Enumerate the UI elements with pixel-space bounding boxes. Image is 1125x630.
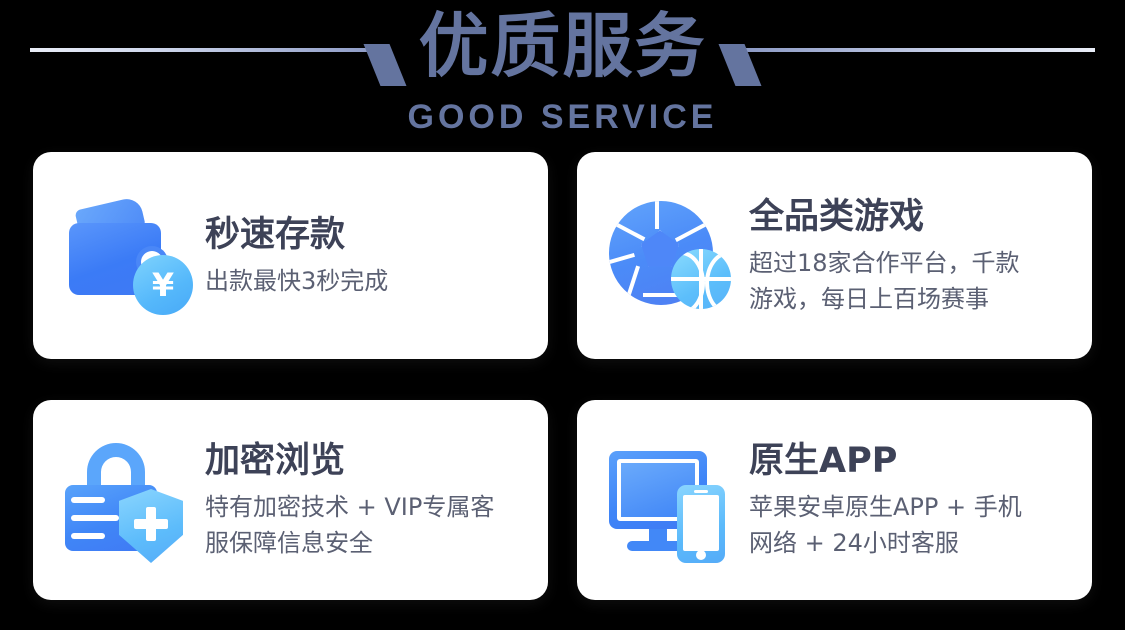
feature-card-title: 全品类游戏	[749, 195, 1080, 239]
feature-card-fast-deposit[interactable]: ¥ 秒速存款 出款最快3秒完成	[33, 152, 548, 359]
feature-card-subtitle-line: 苹果安卓原生APP + 手机	[749, 489, 1080, 525]
soccer-seam	[609, 252, 635, 264]
plus-icon	[134, 519, 168, 529]
feature-card-subtitle-line: 超过18家合作平台，千款	[749, 245, 1080, 281]
feature-card-subtitle-line: 服保障信息安全	[205, 525, 536, 561]
lock-slot	[71, 497, 105, 503]
phone-speaker	[694, 490, 708, 493]
feature-card-subtitle-line: 特有加密技术 + VIP专属客	[205, 489, 536, 525]
feature-card-text: 原生APP 苹果安卓原生APP + 手机 网络 + 24小时客服	[749, 439, 1080, 561]
feature-card-title: 原生APP	[749, 439, 1080, 483]
feature-card-all-games[interactable]: 全品类游戏 超过18家合作平台，千款 游戏，每日上百场赛事	[577, 152, 1092, 359]
feature-card-text: 全品类游戏 超过18家合作平台，千款 游戏，每日上百场赛事	[749, 195, 1080, 317]
page-title: 优质服务	[0, 4, 1125, 88]
phone-icon	[677, 485, 725, 563]
basketball-icon	[671, 249, 731, 309]
soccer-seam	[622, 265, 640, 304]
wallet-yen-icon: ¥	[61, 193, 193, 319]
phone-screen	[683, 495, 719, 551]
page-subtitle: GOOD SERVICE	[0, 98, 1125, 136]
soccer-seam	[675, 215, 713, 241]
soccer-seam	[609, 216, 645, 240]
feature-card-subtitle: 特有加密技术 + VIP专属客 服保障信息安全	[205, 489, 536, 561]
feature-card-text: 加密浏览 特有加密技术 + VIP专属客 服保障信息安全	[205, 439, 536, 561]
feature-card-subtitle-line: 游戏，每日上百场赛事	[749, 281, 1080, 317]
soccer-basketball-icon	[605, 193, 737, 319]
feature-card-subtitle: 出款最快3秒完成	[205, 263, 536, 299]
basketball-curve	[705, 251, 731, 309]
feature-card-title: 加密浏览	[205, 439, 536, 483]
feature-card-text: 秒速存款 出款最快3秒完成	[205, 213, 536, 299]
good-service-banner: 优质服务 GOOD SERVICE ¥ 秒速存款 出款最快3秒完成	[0, 0, 1125, 630]
feature-card-encrypted-browsing[interactable]: 加密浏览 特有加密技术 + VIP专属客 服保障信息安全	[33, 400, 548, 600]
feature-card-subtitle: 超过18家合作平台，千款 游戏，每日上百场赛事	[749, 245, 1080, 317]
yen-coin-icon: ¥	[133, 255, 193, 315]
feature-card-native-app[interactable]: 原生APP 苹果安卓原生APP + 手机 网络 + 24小时客服	[577, 400, 1092, 600]
lock-shield-icon	[61, 437, 193, 563]
feature-card-subtitle-line: 网络 + 24小时客服	[749, 525, 1080, 561]
monitor-phone-icon	[605, 437, 737, 563]
shield-icon	[119, 489, 183, 563]
feature-card-title: 秒速存款	[205, 213, 536, 257]
lock-slot	[71, 515, 119, 521]
soccer-seam	[655, 201, 659, 229]
feature-card-subtitle: 苹果安卓原生APP + 手机 网络 + 24小时客服	[749, 489, 1080, 561]
feature-card-grid: ¥ 秒速存款 出款最快3秒完成	[33, 152, 1092, 600]
lock-slot	[71, 533, 105, 539]
phone-home-button	[696, 550, 706, 560]
banner-header: 优质服务 GOOD SERVICE	[0, 0, 1125, 146]
